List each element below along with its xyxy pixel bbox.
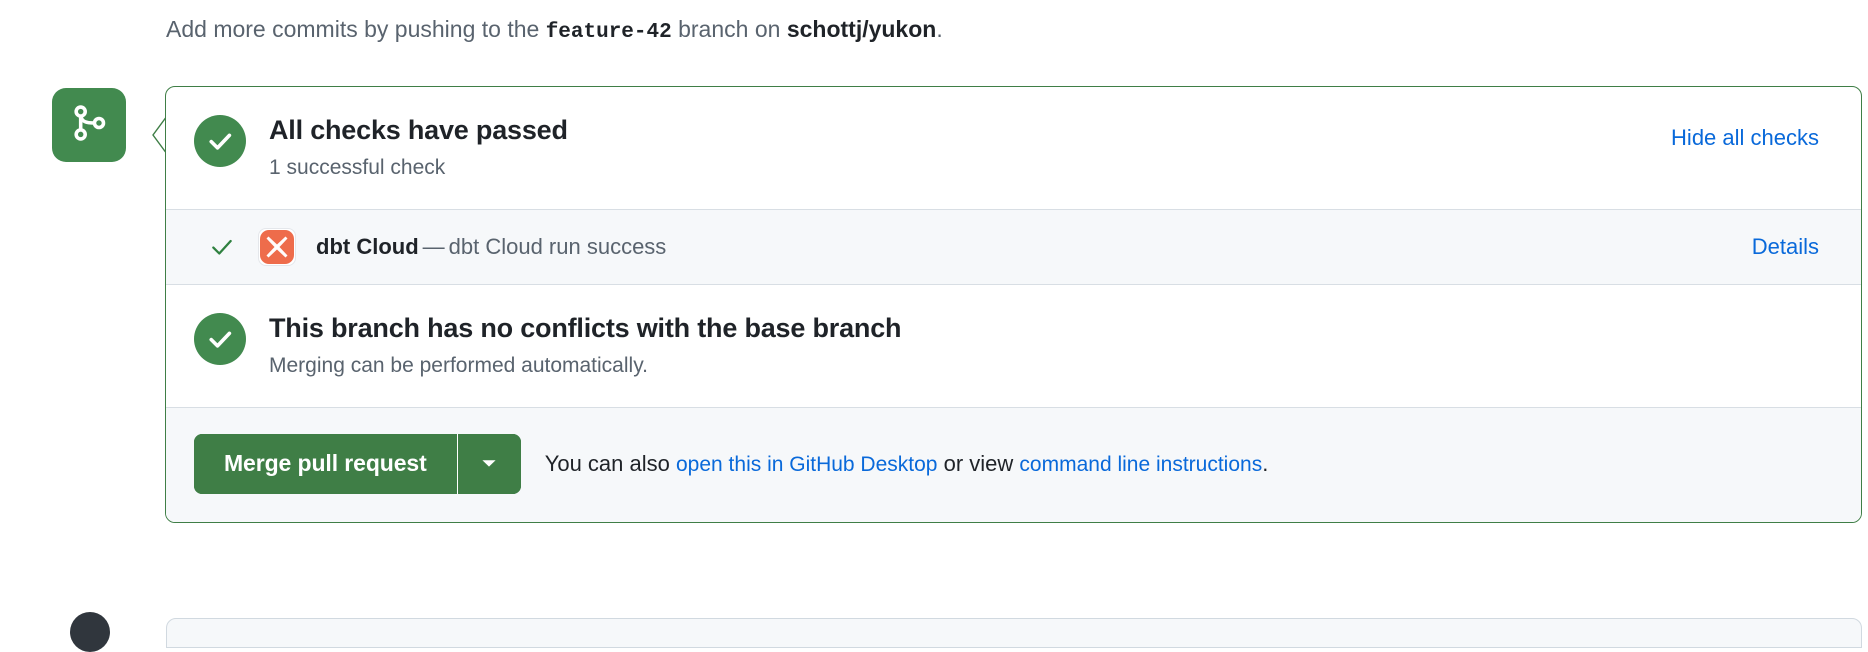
check-details-link[interactable]: Details xyxy=(1752,234,1819,260)
push-hint-prefix: Add more commits by pushing to the xyxy=(166,16,539,42)
checks-summary-subtitle: 1 successful check xyxy=(269,153,1671,183)
branch-name: feature-42 xyxy=(546,21,672,44)
push-more-commits-hint: Add more commits by pushing to the featu… xyxy=(166,14,943,48)
merge-pull-request-button[interactable]: Merge pull request xyxy=(194,434,457,494)
conflicts-title: This branch has no conflicts with the ba… xyxy=(269,311,1837,345)
chevron-down-icon xyxy=(478,452,500,477)
conflicts-section: This branch has no conflicts with the ba… xyxy=(166,284,1861,407)
check-label: dbt Cloud—dbt Cloud run success xyxy=(316,232,666,262)
git-merge-icon xyxy=(70,104,108,147)
merge-footer-note: You can also open this in GitHub Desktop… xyxy=(545,449,1269,480)
check-icon xyxy=(208,233,236,261)
command-line-instructions-link[interactable]: command line instructions xyxy=(1019,453,1262,476)
push-hint-middle: branch on xyxy=(678,16,780,42)
checks-summary-text: All checks have passed 1 successful chec… xyxy=(269,113,1671,183)
hide-all-checks-link[interactable]: Hide all checks xyxy=(1671,125,1819,151)
note-middle: or view xyxy=(944,451,1014,476)
check-circle-icon xyxy=(194,115,246,167)
check-description: dbt Cloud run success xyxy=(449,234,667,259)
checks-summary-section: All checks have passed 1 successful chec… xyxy=(166,87,1861,209)
conflicts-subtitle: Merging can be performed automatically. xyxy=(269,351,1837,381)
check-row-dbt-cloud: dbt Cloud—dbt Cloud run success Details xyxy=(166,210,1861,284)
repository-name: schottj/yukon xyxy=(787,16,937,42)
merge-status-badge xyxy=(52,88,126,162)
conflicts-text: This branch has no conflicts with the ba… xyxy=(269,311,1837,381)
merge-action-section: Merge pull request You can also open thi… xyxy=(166,407,1861,522)
dbt-cloud-logo-icon xyxy=(258,228,296,266)
open-in-github-desktop-link[interactable]: open this in GitHub Desktop xyxy=(676,453,937,476)
note-suffix: . xyxy=(1262,451,1268,476)
checks-summary-title: All checks have passed xyxy=(269,113,1671,147)
merge-options-dropdown-button[interactable] xyxy=(457,434,521,494)
check-name: dbt Cloud xyxy=(316,234,419,259)
note-prefix: You can also xyxy=(545,451,670,476)
check-dash: — xyxy=(423,234,445,259)
check-circle-icon xyxy=(194,313,246,365)
push-hint-suffix: . xyxy=(936,16,942,42)
merge-button-group: Merge pull request xyxy=(194,434,521,494)
conflicts-row: This branch has no conflicts with the ba… xyxy=(166,285,1861,407)
avatar xyxy=(70,612,110,652)
checks-summary-row: All checks have passed 1 successful chec… xyxy=(166,87,1861,209)
next-timeline-item xyxy=(166,618,1862,648)
merge-status-box: All checks have passed 1 successful chec… xyxy=(165,86,1862,523)
merge-footer-row: Merge pull request You can also open thi… xyxy=(166,408,1861,522)
check-list-section: dbt Cloud—dbt Cloud run success Details xyxy=(166,209,1861,284)
